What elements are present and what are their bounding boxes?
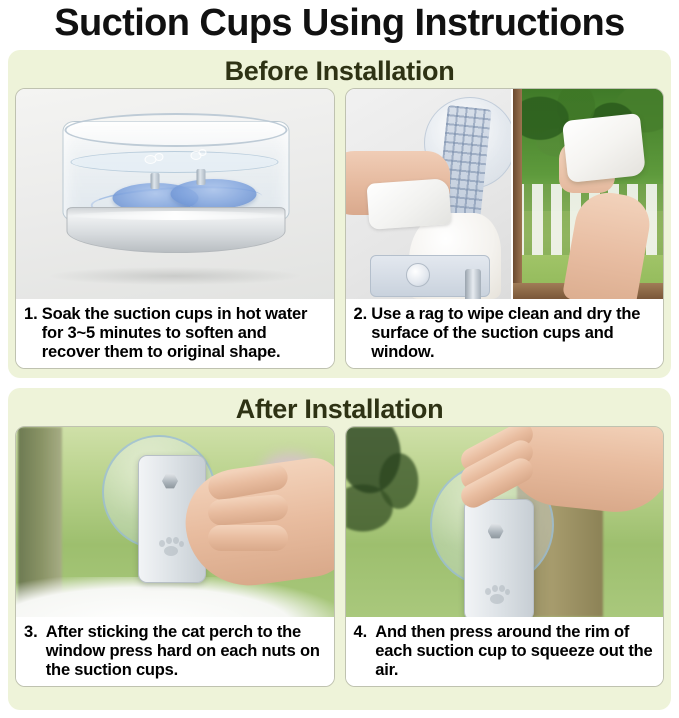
water-surface [70,151,278,173]
window-frame [513,89,522,299]
finger [208,525,288,551]
card-row-before: 1. Soak the suction cups in hot water fo… [8,88,671,375]
caption-1: 1. Soak the suction cups in hot water fo… [16,299,334,368]
bubble-icon [154,153,163,161]
card-row-after: 3. After sticking the cat perch to the w… [8,426,671,693]
step-number-3: 3. [24,623,46,680]
photo-pressing-rim [346,427,664,617]
step-text-2: Use a rag to wipe clean and dry the surf… [371,305,657,362]
bubble-icon [198,149,206,156]
step-number-4: 4. [354,623,376,680]
photo-half-wipe-window [511,89,663,299]
section-heading-before: Before Installation [8,50,671,88]
step-number-1: 1. [24,305,42,362]
metal-bolt [196,169,205,185]
section-heading-after: After Installation [8,388,671,426]
cleaning-rag [366,178,451,230]
cleaning-rag [562,113,646,183]
instruction-card-2: 2. Use a rag to wipe clean and dry the s… [345,88,665,369]
caption-3: 3. After sticking the cat perch to the w… [16,617,334,686]
section-after-installation: After Installation [8,388,671,710]
white-plush-ledge [16,577,334,617]
photo-wiping-cup-and-window [346,89,664,299]
instruction-sheet: Suction Cups Using Instructions Before I… [0,0,679,718]
metal-bolt [150,173,159,189]
blue-suction-cup [170,179,256,209]
step-text-4: And then press around the rim of each su… [375,623,657,680]
step-text-3: After sticking the cat perch to the wind… [46,623,328,680]
mount-knob [406,263,430,287]
bowl-rim [64,113,287,147]
step-number-2: 2. [354,305,372,362]
paw-print-icon [158,537,184,557]
photo-suction-cups-soaking [16,89,334,299]
bowl-base-highlight [72,211,277,220]
photo-pressing-nut [16,427,334,617]
bowl-shadow [50,267,300,285]
instruction-card-1: 1. Soak the suction cups in hot water fo… [15,88,335,369]
metal-clip [465,269,481,299]
caption-4: 4. And then press around the rim of each… [346,617,664,686]
instruction-card-4: 4. And then press around the rim of each… [345,426,665,687]
page-title: Suction Cups Using Instructions [0,0,679,48]
instruction-card-3: 3. After sticking the cat perch to the w… [15,426,335,687]
glass-bowl [62,111,287,261]
step-text-1: Soak the suction cups in hot water for 3… [42,305,328,362]
paw-print-icon [484,585,510,605]
section-before-installation: Before Installation [8,50,671,378]
caption-2: 2. Use a rag to wipe clean and dry the s… [346,299,664,368]
photo-half-wipe-mount [346,89,511,299]
